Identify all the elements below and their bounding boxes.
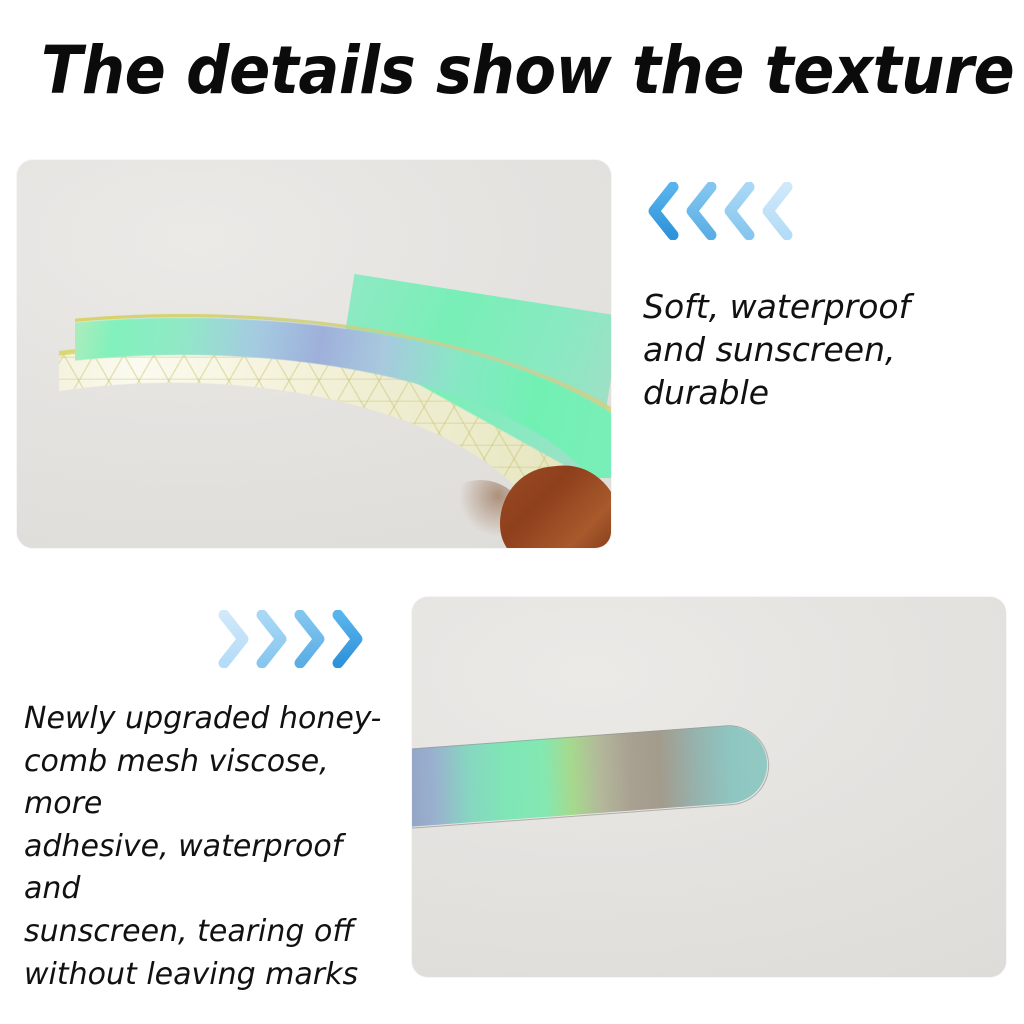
chevron-right-icon [292, 610, 326, 668]
chevron-left-icon [684, 182, 718, 240]
tape-edge-highlight [75, 176, 611, 476]
chevron-right-group [216, 610, 364, 668]
chevron-right-icon [292, 610, 326, 668]
chevron-right-icon [254, 610, 288, 668]
chevron-left-icon [722, 182, 756, 240]
feature-text-honeycomb-mesh: Newly upgraded honey- comb mesh viscose,… [24, 698, 396, 996]
chevron-left-icon [684, 182, 718, 240]
holographic-tape-loop-photo [17, 160, 611, 548]
chevron-right-icon [330, 610, 364, 668]
feature-text-soft-waterproof: Soft, waterproof and sunscreen, durable [643, 286, 1013, 415]
chevron-left-icon [760, 182, 794, 240]
holographic-tape-strip-photo [412, 597, 1006, 977]
page-title: The details show the texture [41, 38, 983, 104]
chevron-left-icon [760, 182, 794, 240]
chevron-left-icon [722, 182, 756, 240]
chevron-right-icon [216, 610, 250, 668]
chevron-right-icon [330, 610, 364, 668]
tape-loop-illustration [17, 160, 611, 548]
chevron-left-icon [646, 182, 680, 240]
chevron-left-icon [646, 182, 680, 240]
chevron-right-icon [216, 610, 250, 668]
chevron-left-group [646, 182, 794, 240]
chevron-right-icon [254, 610, 288, 668]
